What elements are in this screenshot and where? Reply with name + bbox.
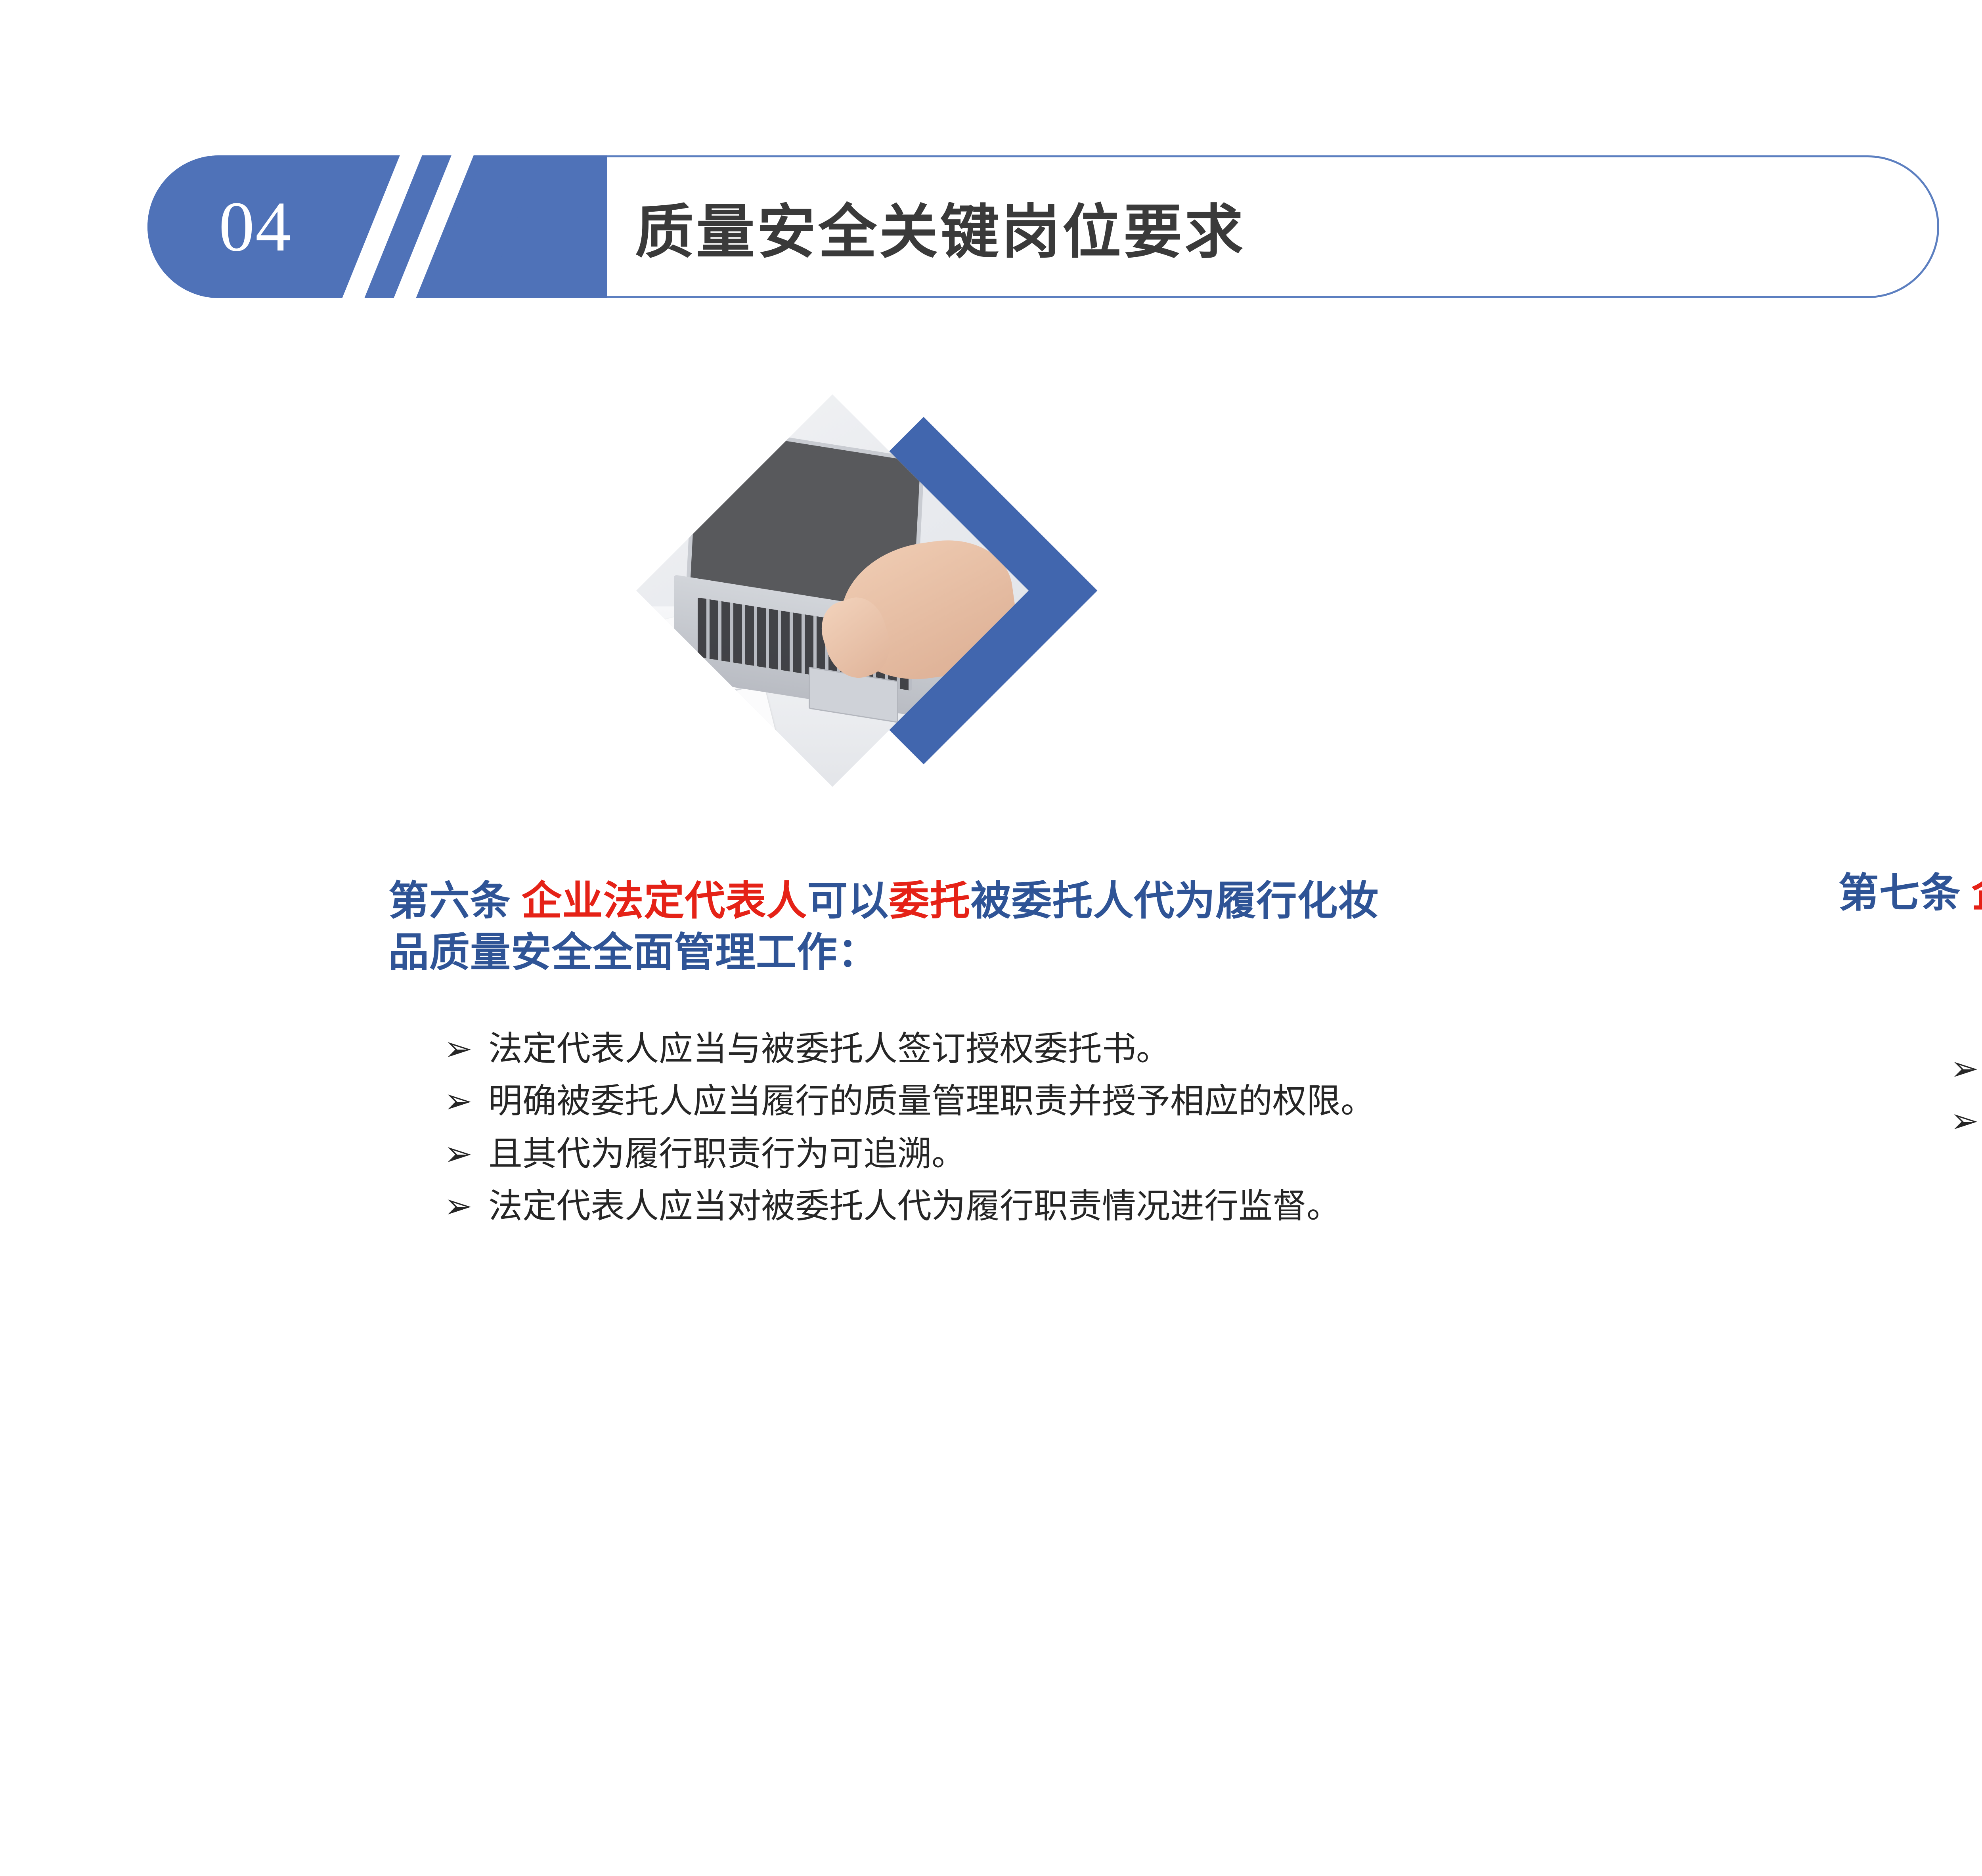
chevron-bullet-icon: ➢ <box>444 1079 488 1124</box>
heading-segment-highlight: 企业法定代表人 <box>1971 871 1982 916</box>
section-header: 04 质量安全关键岗位要求 <box>147 155 1939 298</box>
bullet-list-right: ➢ 应当加强化妆品质量安全管理和相关法律法规知识学习。 ➢ 具备对化妆品质量安全… <box>1950 1046 1982 1144</box>
list-item-text: 且其代为履行职责行为可追溯。 <box>488 1131 1403 1176</box>
chevron-bullet-icon: ➢ <box>1950 1098 1982 1144</box>
heading-segment: 可以 <box>807 879 889 924</box>
list-item-text: 明确被委托人应当履行的质量管理职责并授予相应的权限。 <box>488 1079 1403 1124</box>
list-item: ➢ 且其代为履行职责行为可追溯。 <box>444 1131 1403 1176</box>
diamond-image-group-left <box>618 396 1451 817</box>
list-item: ➢ 法定代表人应当对被委托人代为履行职责情况进行监督。 <box>444 1184 1403 1229</box>
content-column-left: 第六条 企业法定代表人可以委托被委托人代为履行化妆品质量安全全面管理工作： ➢ … <box>222 396 1451 1236</box>
section-number-text: 04 <box>219 191 292 262</box>
hand-typing-on-laptop-photo <box>636 394 1029 787</box>
heading-segment-highlight: 委托 <box>889 879 971 924</box>
chevron-bullet-icon: ➢ <box>444 1026 488 1071</box>
list-item-text: 法定代表人应当对被委托人代为履行职责情况进行监督。 <box>488 1184 1403 1229</box>
heading-segment: 第七条 <box>1839 871 1972 916</box>
page-title: 质量安全关键岗位要求 <box>635 184 1245 270</box>
article-heading-left: 第六条 企业法定代表人可以委托被委托人代为履行化妆品质量安全全面管理工作： <box>388 876 1419 979</box>
list-item: ➢ 法定代表人应当与被委托人签订授权委托书。 <box>444 1026 1403 1071</box>
chevron-bullet-icon: ➢ <box>1950 1046 1982 1091</box>
bullet-list-left: ➢ 法定代表人应当与被委托人签订授权委托书。 ➢ 明确被委托人应当履行的质量管理… <box>444 1026 1403 1229</box>
section-number-badge: 04 <box>147 155 607 298</box>
list-item: ➢ 明确被委托人应当履行的质量管理职责并授予相应的权限。 <box>444 1079 1403 1124</box>
heading-segment-highlight: 企业法定代表人 <box>522 879 807 924</box>
list-item: ➢ 具备对化妆品质量安全重大问题正确决策的能力。 <box>1950 1098 1982 1144</box>
list-item: ➢ 应当加强化妆品质量安全管理和相关法律法规知识学习。 <box>1950 1046 1982 1091</box>
content-column-right: 第七条 企业法定代表人或者其委托的代为履行化妆品质量安全全面管理工作的被委托人：… <box>1657 396 1982 1151</box>
chevron-bullet-icon: ➢ <box>444 1184 488 1229</box>
list-item-text: 法定代表人应当与被委托人签订授权委托书。 <box>488 1026 1403 1071</box>
article-heading-right: 第七条 企业法定代表人或者其委托的代为履行化妆品质量安全全面管理工作的被委托人： <box>1827 868 1982 971</box>
chevron-bullet-icon: ➢ <box>444 1131 488 1176</box>
heading-segment: 第六条 <box>388 879 522 924</box>
